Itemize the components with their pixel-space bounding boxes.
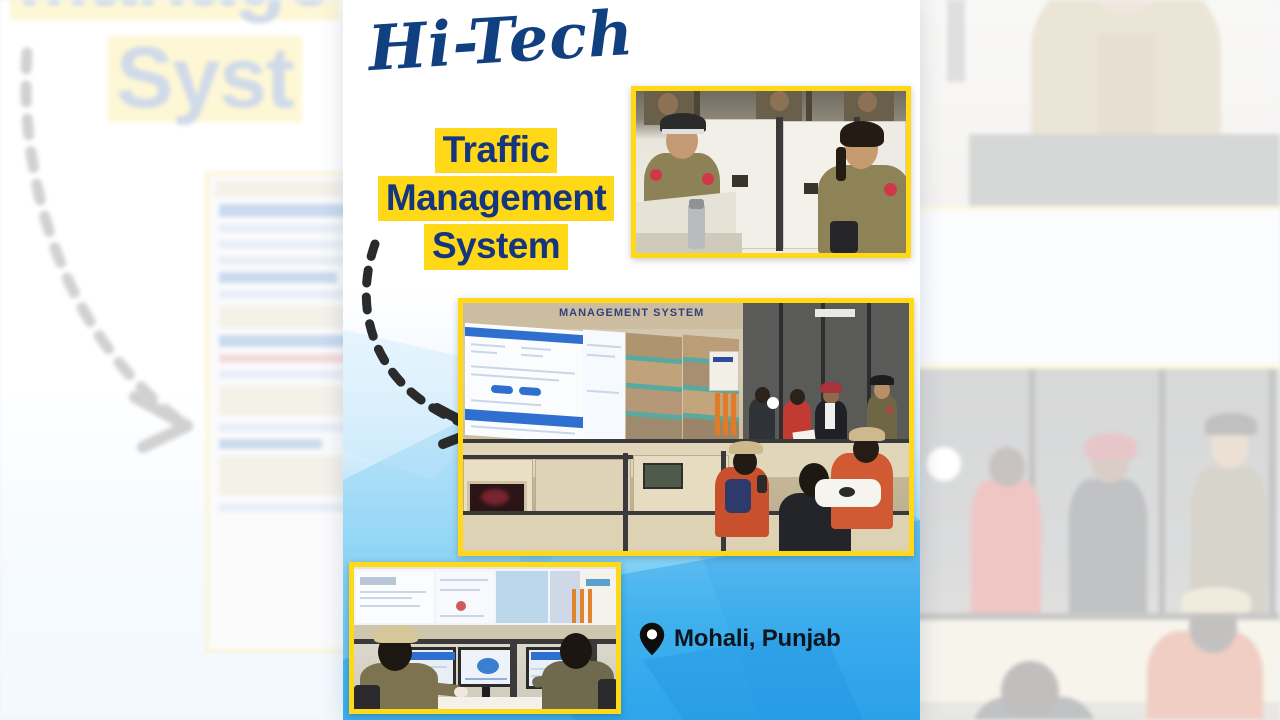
headline-block: Traffic Management System (351, 128, 641, 273)
backdrop-photo-control-room (905, 365, 1280, 720)
backdrop-dashed-arrow-icon (15, 45, 225, 465)
backdrop-word-manage: Manage (10, 0, 340, 20)
backdrop-right-panel (905, 0, 1280, 720)
poster-card: Hi-Tech Traffic Management System (343, 0, 920, 720)
location-label: Mohali, Punjab (674, 625, 841, 653)
location-badge: Mohali, Punjab (639, 622, 841, 656)
map-pin-icon (639, 622, 665, 656)
backdrop-photo-officer (905, 0, 1280, 210)
backdrop-left-panel: Manage Syst (0, 0, 380, 720)
photo-two-women-police-officers (631, 86, 911, 258)
headline-line-traffic: Traffic (435, 128, 558, 173)
photo-control-room-video-wall: MANAGEMENT SYSTEM (458, 298, 914, 556)
photo-two-operators-monitors (349, 562, 621, 714)
headline-line-system: System (424, 224, 568, 269)
poster-stage: Manage Syst (0, 0, 1280, 720)
headline-line-management: Management (378, 176, 614, 221)
wall-sign-text: MANAGEMENT SYSTEM (559, 307, 704, 319)
